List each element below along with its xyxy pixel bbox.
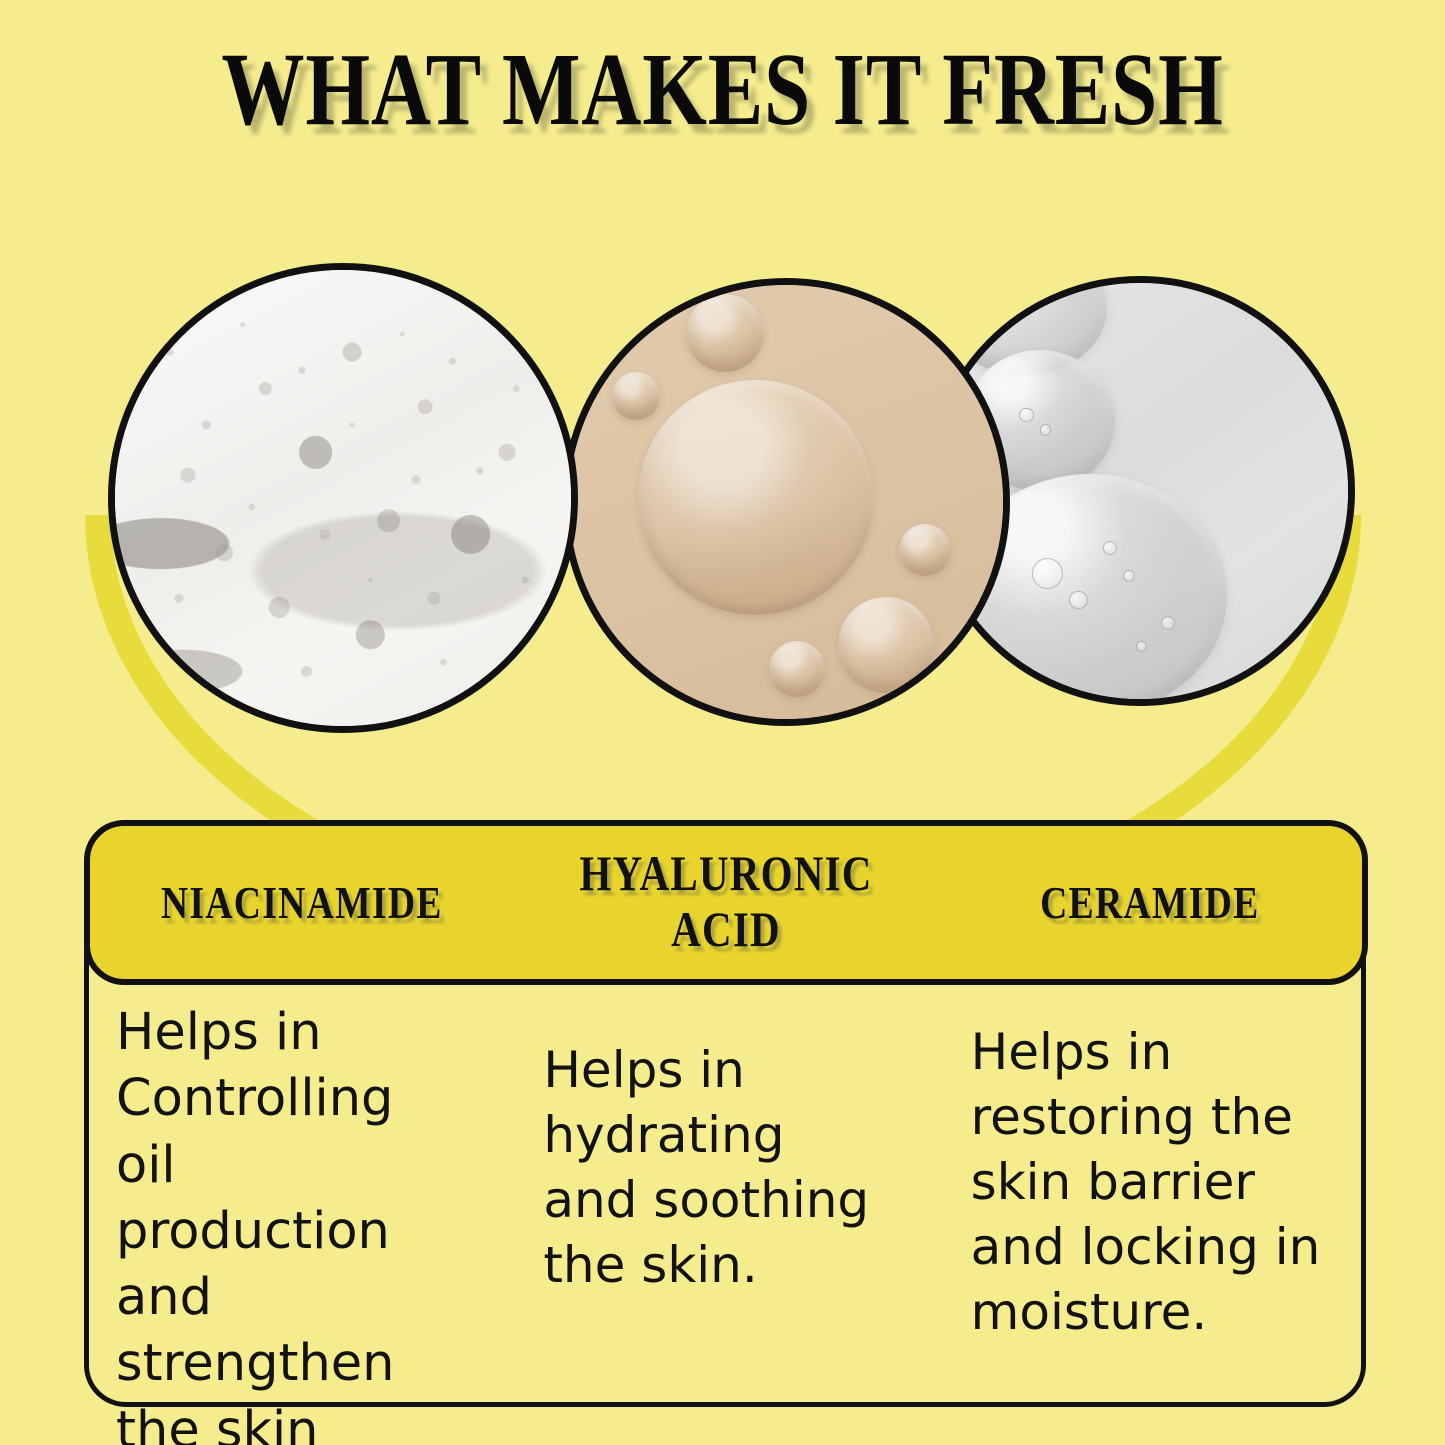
ingredient-label-ceramide: CERAMIDE <box>938 826 1362 979</box>
beige-serum-texture <box>569 285 1003 719</box>
serum-droplet <box>769 641 825 697</box>
serum-droplet <box>686 294 764 372</box>
description-text: Helps in restoring the skin barrier and … <box>971 1020 1342 1345</box>
ingredient-label-bar: NIACINAMIDE HYALURONIC ACID CERAMIDE <box>84 820 1368 985</box>
ingredient-label-text: CERAMIDE <box>1040 877 1259 929</box>
description-text: Helps in Controlling oil production and … <box>116 1000 487 1445</box>
serum-droplet <box>612 372 660 420</box>
infographic-poster: WHAT MAKES IT FRESH <box>0 0 1445 1445</box>
bubble <box>1032 558 1063 589</box>
ingredient-description-row: Helps in Controlling oil production and … <box>84 1000 1366 1400</box>
serum-droplet <box>899 524 951 576</box>
bubble <box>1136 641 1147 652</box>
description-text: Helps in hydrating and soothing the skin… <box>543 1038 914 1298</box>
ingredient-label-text: NIACINAMIDE <box>161 877 443 929</box>
ingredient-description-niacinamide: Helps in Controlling oil production and … <box>84 1000 511 1400</box>
clear-gel-texture <box>115 270 571 726</box>
ingredient-description-hyaluronic-acid: Helps in hydrating and soothing the skin… <box>511 1000 938 1400</box>
beige-serum-swatch <box>562 278 1010 726</box>
serum-droplet <box>638 380 872 614</box>
ingredient-label-hyaluronic-acid: HYALURONIC ACID <box>514 826 938 979</box>
clear-gel-swatch <box>108 263 578 733</box>
ingredient-label-niacinamide: NIACINAMIDE <box>90 826 514 979</box>
swatch-circle-row <box>0 0 1445 800</box>
bubble <box>1040 424 1051 435</box>
ingredient-label-text: HYALURONIC ACID <box>557 845 895 957</box>
ingredient-description-ceramide: Helps in restoring the skin barrier and … <box>939 1000 1366 1400</box>
bubble <box>1019 408 1033 422</box>
serum-droplet <box>838 597 933 692</box>
